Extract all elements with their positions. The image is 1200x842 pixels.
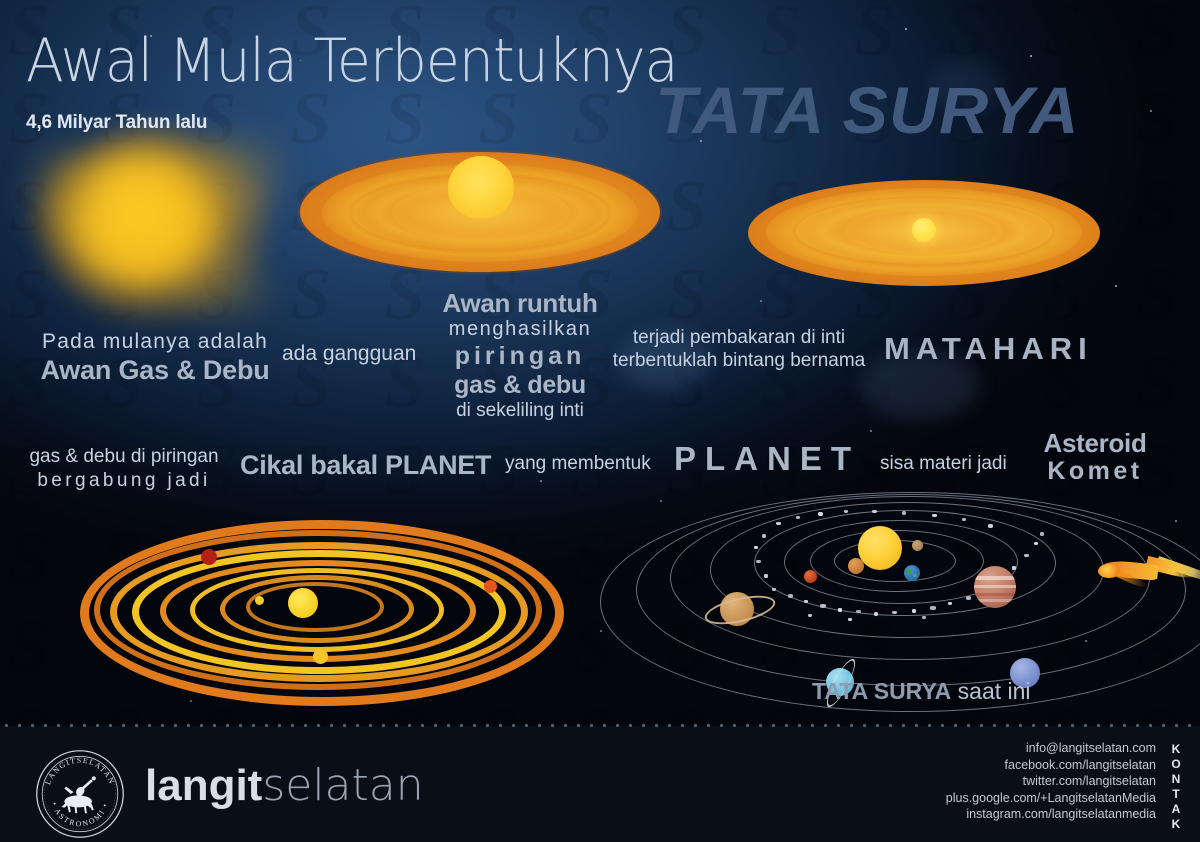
caption-step-3-line5: di sekeliling inti xyxy=(420,400,620,422)
protoplanetary-disk-illustration-2 xyxy=(748,178,1100,290)
caption-step-4: terjadi pembakaran di inti terbentuklah … xyxy=(608,326,870,372)
contact-list: info@langitselatan.com facebook.com/lang… xyxy=(946,740,1156,823)
caption-step-11-line1: Asteroid xyxy=(1010,428,1180,459)
contact-email[interactable]: info@langitselatan.com xyxy=(946,740,1156,757)
page-subtitle: 4,6 Milyar Tahun lalu xyxy=(26,112,207,134)
brand-name-light: selatan xyxy=(262,760,423,811)
protoplanetary-rings-illustration xyxy=(80,520,550,695)
brand-name-bold: langit xyxy=(145,761,262,810)
page-title: Awal Mula Terbentuknya xyxy=(26,26,678,96)
planet-venus xyxy=(848,558,864,574)
svg-text:LANGITSELATAN: LANGITSELATAN xyxy=(43,756,116,786)
caption-step-4-line2: terbentuklah bintang bernama xyxy=(608,349,870,372)
infographic-poster: SSSSSSSSSSSSSSSSSSSSSSSSSSSSSSSSSSSSSSSS… xyxy=(0,0,1200,842)
langitselatan-seal-logo: LANGITSELATAN • ASTRONOMI • xyxy=(34,748,126,840)
planet-merkurius xyxy=(912,540,923,551)
caption-step-7: Cikal bakal PLANET xyxy=(240,450,491,481)
caption-step-9-planet: PLANET xyxy=(674,440,860,478)
comet-illustration xyxy=(1096,556,1200,596)
contact-twitter[interactable]: twitter.com/langitselatan xyxy=(946,773,1156,790)
caption-step-11-line2: Komet xyxy=(1010,457,1180,486)
caption-step-1-line1: Pada mulanya adalah xyxy=(30,330,280,354)
caption-step-6-line2: bergabung jadi xyxy=(24,470,224,492)
kontak-vertical-label: KONTAK xyxy=(1168,742,1184,832)
contact-facebook[interactable]: facebook.com/langitselatan xyxy=(946,757,1156,774)
protoplanet-yellow-small xyxy=(313,649,328,664)
gas-dust-cloud-illustration xyxy=(28,118,278,328)
caption-step-1: Pada mulanya adalah Awan Gas & Debu xyxy=(30,330,280,386)
brand-wordmark: langitselatan xyxy=(145,760,424,811)
caption-step-3-line1: Awan runtuh xyxy=(420,288,620,319)
caption-step-3: Awan runtuh menghasilkan piringan gas & … xyxy=(420,288,620,422)
protoplanet-orange xyxy=(484,580,497,593)
caption-step-1-line2: Awan Gas & Debu xyxy=(30,355,280,386)
planet-matahari xyxy=(858,526,902,570)
caption-step-3-line4: gas & debu xyxy=(420,371,620,400)
page-big-title: TATA SURYA xyxy=(655,72,1079,148)
caption-step-11: Asteroid Komet xyxy=(1010,428,1180,486)
caption-step-6: gas & debu di piringan bergabung jadi xyxy=(24,446,224,492)
solar-system-caption-bold: TATA SURYA xyxy=(812,678,951,704)
caption-step-3-line2: menghasilkan xyxy=(420,318,620,341)
caption-step-8: yang membentuk xyxy=(505,453,651,475)
planet-jupiter xyxy=(974,566,1016,608)
caption-step-3-line3: piringan xyxy=(420,342,620,371)
seal-icon: LANGITSELATAN • ASTRONOMI • xyxy=(34,748,126,840)
planet-saturnus xyxy=(706,586,770,630)
protoplanet-red xyxy=(201,549,217,565)
caption-step-2: ada gangguan xyxy=(282,342,416,366)
protoplanetary-disk-illustration-1 xyxy=(300,148,660,276)
solar-system-caption: TATA SURYA saat ini xyxy=(812,678,1031,705)
contact-instagram[interactable]: instagram.com/langitselatanmedia xyxy=(946,806,1156,823)
caption-step-10: sisa materi jadi xyxy=(880,453,1007,475)
footer-divider xyxy=(0,723,1200,728)
caption-step-6-line1: gas & debu di piringan xyxy=(24,446,224,468)
contact-googleplus[interactable]: plus.google.com/+LangitselatanMedia xyxy=(946,790,1156,807)
solar-system-caption-light: saat ini xyxy=(951,678,1030,704)
caption-step-4-line1: terjadi pembakaran di inti xyxy=(608,326,870,349)
planet-mars xyxy=(804,570,817,583)
protostar-core xyxy=(288,588,318,618)
caption-step-5-matahari: MATAHARI xyxy=(884,331,1093,367)
protoplanet-yellow-tiny xyxy=(255,596,264,605)
